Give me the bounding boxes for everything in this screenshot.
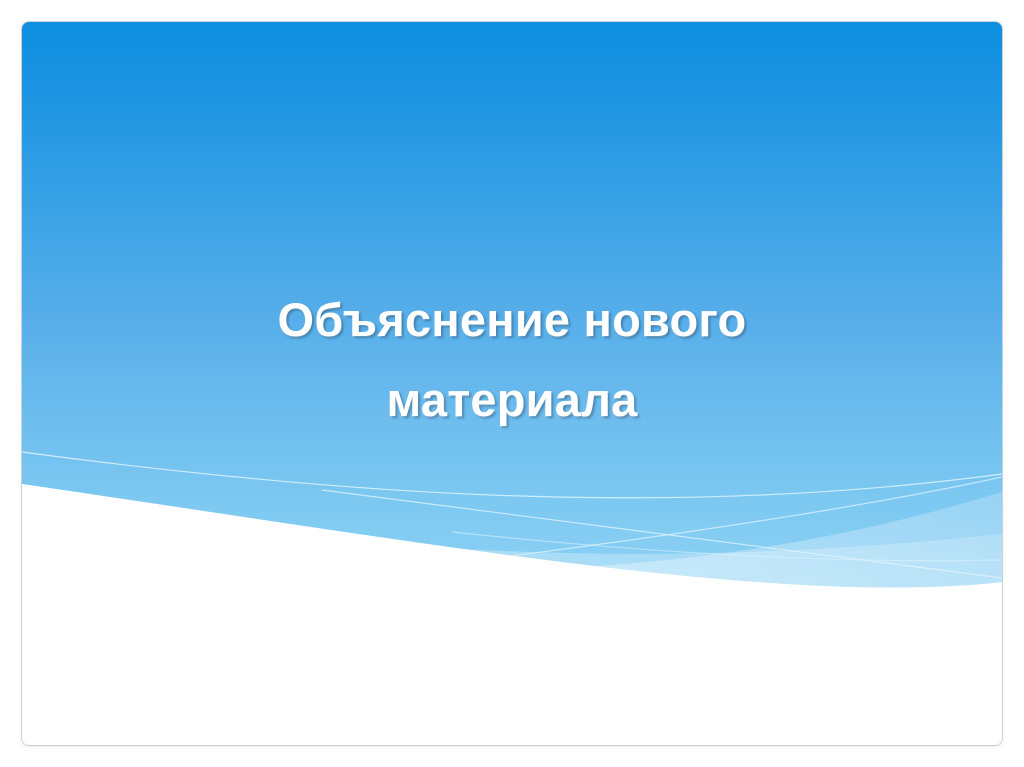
slide-title: Объяснение нового материала: [22, 280, 1002, 440]
wave-white-foreground: [22, 484, 1002, 745]
wave-hairline-a: [22, 452, 1002, 498]
title-line-1: Объяснение нового: [82, 280, 942, 360]
presentation-slide[interactable]: Объяснение нового материала: [22, 22, 1002, 745]
title-line-2: материала: [82, 360, 942, 440]
slide-viewer: Объяснение нового материала: [0, 0, 1024, 767]
